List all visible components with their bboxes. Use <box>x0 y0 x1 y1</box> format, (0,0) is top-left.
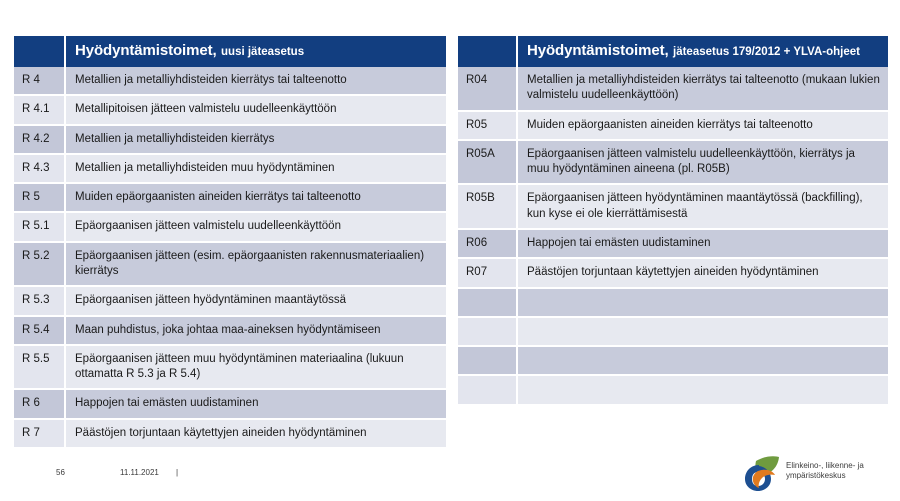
row-code <box>458 346 517 375</box>
row-code: R06 <box>458 229 517 258</box>
row-code: R 4 <box>14 67 65 95</box>
left-table: Hyödyntämistoimet, uusi jäteasetus R 4 M… <box>14 36 446 449</box>
row-text: Happojen tai emästen uudistaminen <box>517 229 888 258</box>
table-row: R 5 Muiden epäorgaanisten aineiden kierr… <box>14 183 446 212</box>
table-row: R 4.3 Metallien ja metalliyhdisteiden mu… <box>14 154 446 183</box>
table-row-empty <box>458 346 888 375</box>
row-text: Maan puhdistus, joka johtaa maa-aineksen… <box>65 316 446 345</box>
table-row: R06 Happojen tai emästen uudistaminen <box>458 229 888 258</box>
row-text: Happojen tai emästen uudistaminen <box>65 389 446 418</box>
row-text: Epäorgaanisen jätteen valmistelu uudelle… <box>65 212 446 241</box>
row-text <box>517 288 888 317</box>
table-row: R 5.2 Epäorgaanisen jätteen (esim. epäor… <box>14 242 446 287</box>
row-text: Päästöjen torjuntaan käytettyjen aineide… <box>517 258 888 287</box>
table-row: R 6 Happojen tai emästen uudistaminen <box>14 389 446 418</box>
page-number: 56 <box>56 468 65 477</box>
row-text: Metallien ja metalliyhdisteiden kierräty… <box>517 67 888 111</box>
row-code: R 5.5 <box>14 345 65 390</box>
row-code: R 4.2 <box>14 125 65 154</box>
right-header-title-cell: Hyödyntämistoimet, jäteasetus 179/2012 +… <box>517 36 888 67</box>
table-row: R05B Epäorgaanisen jätteen hyödyntäminen… <box>458 184 888 229</box>
right-header-code-column <box>458 36 517 67</box>
right-table-grid: Hyödyntämistoimet, jäteasetus 179/2012 +… <box>458 36 888 406</box>
left-table-header-row: Hyödyntämistoimet, uusi jäteasetus <box>14 36 446 67</box>
row-code: R 5.4 <box>14 316 65 345</box>
row-text: Epäorgaanisen jätteen hyödyntäminen maan… <box>517 184 888 229</box>
table-row: R 4 Metallien ja metalliyhdisteiden kier… <box>14 67 446 95</box>
left-table-body: Hyödyntämistoimet, uusi jäteasetus R 4 M… <box>14 36 446 448</box>
footer-date: 11.11.2021 <box>120 468 159 477</box>
row-code: R04 <box>458 67 517 111</box>
ely-logo-line1: Elinkeino-, liikenne- ja <box>786 461 864 470</box>
table-row: R04 Metallien ja metalliyhdisteiden kier… <box>458 67 888 111</box>
row-code: R07 <box>458 258 517 287</box>
row-text: Metallien ja metalliyhdisteiden kierräty… <box>65 67 446 95</box>
row-code: R05B <box>458 184 517 229</box>
table-row: R 5.1 Epäorgaanisen jätteen valmistelu u… <box>14 212 446 241</box>
row-text <box>517 375 888 404</box>
row-code <box>458 317 517 346</box>
row-text: Päästöjen torjuntaan käytettyjen aineide… <box>65 419 446 448</box>
row-text: Metallien ja metalliyhdisteiden muu hyöd… <box>65 154 446 183</box>
row-code: R 5.3 <box>14 286 65 315</box>
table-row: R 4.1 Metallipitoisen jätteen valmistelu… <box>14 95 446 124</box>
right-table-body: Hyödyntämistoimet, jäteasetus 179/2012 +… <box>458 36 888 405</box>
row-text: Epäorgaanisen jätteen hyödyntäminen maan… <box>65 286 446 315</box>
right-header-title-strong: Hyödyntämistoimet, <box>527 42 669 59</box>
row-text <box>517 317 888 346</box>
table-row-empty <box>458 317 888 346</box>
row-code: R 5.1 <box>14 212 65 241</box>
table-row: R05A Epäorgaanisen jätteen valmistelu uu… <box>458 140 888 185</box>
row-text: Epäorgaanisen jätteen (esim. epäorgaanis… <box>65 242 446 287</box>
row-text <box>517 346 888 375</box>
row-text: Muiden epäorgaanisten aineiden kierrätys… <box>65 183 446 212</box>
row-text: Epäorgaanisen jätteen valmistelu uudelle… <box>517 140 888 185</box>
row-code: R 4.1 <box>14 95 65 124</box>
row-code: R05A <box>458 140 517 185</box>
table-row: R 5.4 Maan puhdistus, joka johtaa maa-ai… <box>14 316 446 345</box>
row-code: R05 <box>458 111 517 140</box>
ely-logo-text: Elinkeino-, liikenne- ja ympäristökeskus <box>786 461 894 481</box>
ely-logo: Elinkeino-, liikenne- ja ympäristökeskus <box>742 452 892 494</box>
right-table-header-row: Hyödyntämistoimet, jäteasetus 179/2012 +… <box>458 36 888 67</box>
left-header-title-sub: uusi jäteasetus <box>221 46 304 58</box>
row-code: R 5 <box>14 183 65 212</box>
table-row: R07 Päästöjen torjuntaan käytettyjen ain… <box>458 258 888 287</box>
row-code: R 7 <box>14 419 65 448</box>
table-row: R 5.5 Epäorgaanisen jätteen muu hyödyntä… <box>14 345 446 390</box>
left-table-grid: Hyödyntämistoimet, uusi jäteasetus R 4 M… <box>14 36 446 449</box>
row-code: R 4.3 <box>14 154 65 183</box>
row-text: Epäorgaanisen jätteen muu hyödyntäminen … <box>65 345 446 390</box>
row-code <box>458 288 517 317</box>
row-text: Metallipitoisen jätteen valmistelu uudel… <box>65 95 446 124</box>
footer-separator: | <box>176 468 178 477</box>
row-text: Metallien ja metalliyhdisteiden kierräty… <box>65 125 446 154</box>
row-code <box>458 375 517 404</box>
row-code: R 6 <box>14 389 65 418</box>
table-row-empty <box>458 375 888 404</box>
row-code: R 5.2 <box>14 242 65 287</box>
table-row: R 5.3 Epäorgaanisen jätteen hyödyntämine… <box>14 286 446 315</box>
right-table: Hyödyntämistoimet, jäteasetus 179/2012 +… <box>458 36 888 406</box>
right-header-title-sub: jäteasetus 179/2012 + YLVA-ohjeet <box>673 46 860 58</box>
table-row-empty <box>458 288 888 317</box>
table-row: R05 Muiden epäorgaanisten aineiden kierr… <box>458 111 888 140</box>
table-row: R 7 Päästöjen torjuntaan käytettyjen ain… <box>14 419 446 448</box>
row-text: Muiden epäorgaanisten aineiden kierrätys… <box>517 111 888 140</box>
left-header-title-strong: Hyödyntämistoimet, <box>75 42 217 59</box>
left-header-code-column <box>14 36 65 67</box>
ely-logo-icon <box>742 454 782 492</box>
ely-logo-line2: ympäristökeskus <box>786 471 846 480</box>
table-row: R 4.2 Metallien ja metalliyhdisteiden ki… <box>14 125 446 154</box>
left-header-title-cell: Hyödyntämistoimet, uusi jäteasetus <box>65 36 446 67</box>
